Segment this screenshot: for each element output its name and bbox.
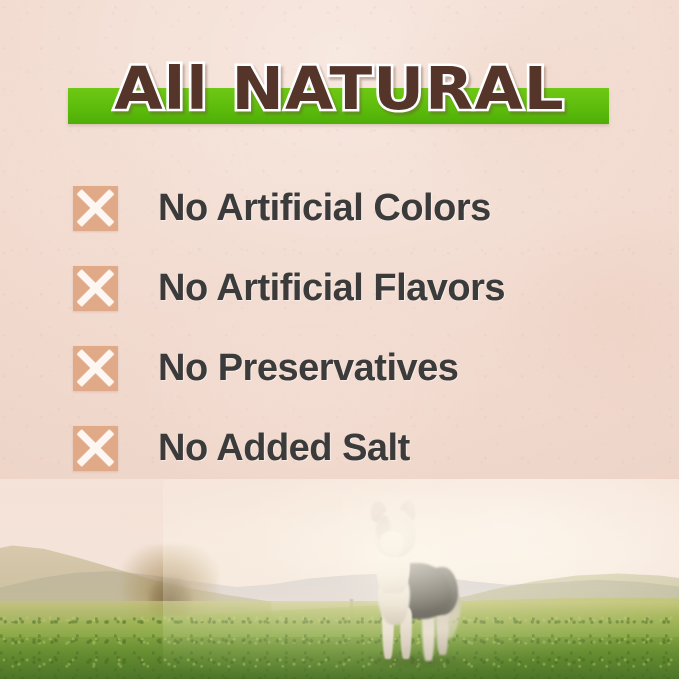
x-mark-icon	[73, 426, 118, 471]
claim-label: No Artificial Colors	[158, 189, 491, 227]
x-mark-icon	[73, 266, 118, 311]
grass-texture	[0, 607, 679, 679]
dog	[352, 501, 468, 669]
list-item: No Added Salt	[0, 408, 679, 488]
landscape-photo	[0, 479, 679, 679]
x-mark-icon	[73, 346, 118, 391]
all-natural-feature-panel: All NATURAL No Artificial Colors No Arti…	[0, 0, 679, 679]
claim-label: No Added Salt	[158, 429, 410, 467]
claims-list: No Artificial Colors No Artificial Flavo…	[0, 168, 679, 488]
list-item: No Artificial Flavors	[0, 248, 679, 328]
page-title: All NATURAL	[0, 54, 679, 124]
list-item: No Artificial Colors	[0, 168, 679, 248]
claim-label: No Preservatives	[158, 349, 458, 387]
headline-banner: All NATURAL	[0, 54, 679, 128]
list-item: No Preservatives	[0, 328, 679, 408]
dog-shadow	[368, 653, 464, 669]
x-mark-icon	[73, 186, 118, 231]
claim-label: No Artificial Flavors	[158, 269, 505, 307]
